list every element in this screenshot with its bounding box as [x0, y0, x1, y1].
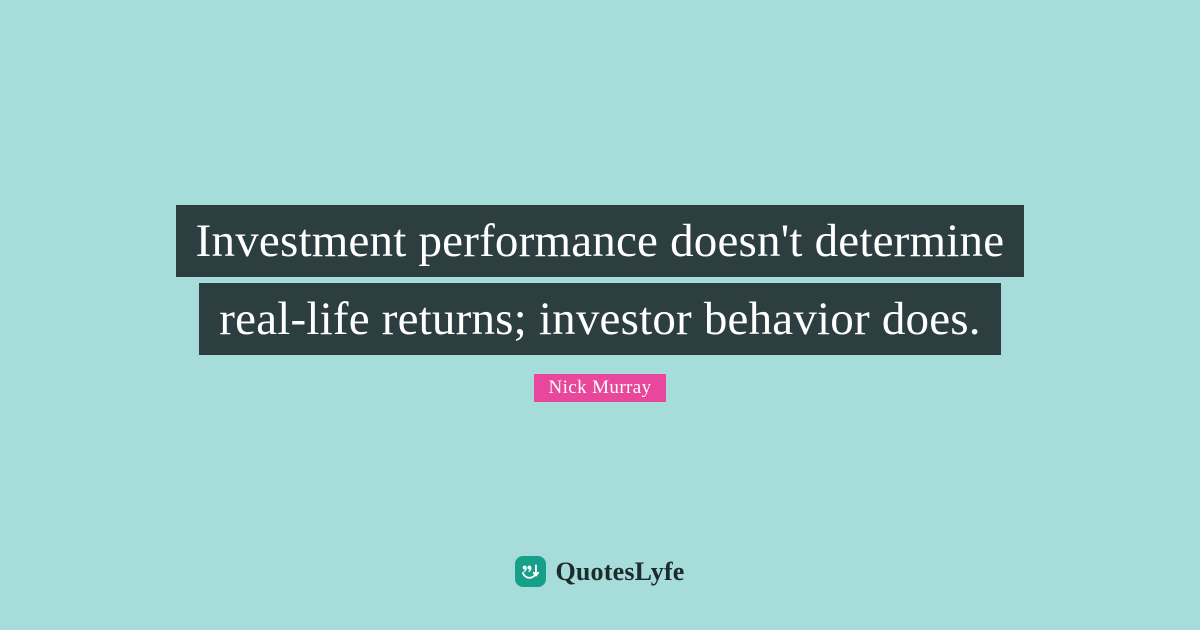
author-name-badge: Nick Murray — [534, 374, 665, 402]
quotes-smiley-icon — [515, 556, 546, 587]
quote-line-2: real-life returns; investor behavior doe… — [199, 283, 1000, 355]
quote-card: Investment performance doesn't determine… — [0, 0, 1200, 630]
quote-text: Investment performance doesn't determine… — [0, 205, 1200, 355]
quote-line-1: Investment performance doesn't determine — [176, 205, 1025, 277]
brand-footer: QuotesLyfe — [0, 556, 1200, 587]
brand-name: QuotesLyfe — [555, 557, 684, 587]
author-attribution: Nick Murray — [0, 374, 1200, 402]
